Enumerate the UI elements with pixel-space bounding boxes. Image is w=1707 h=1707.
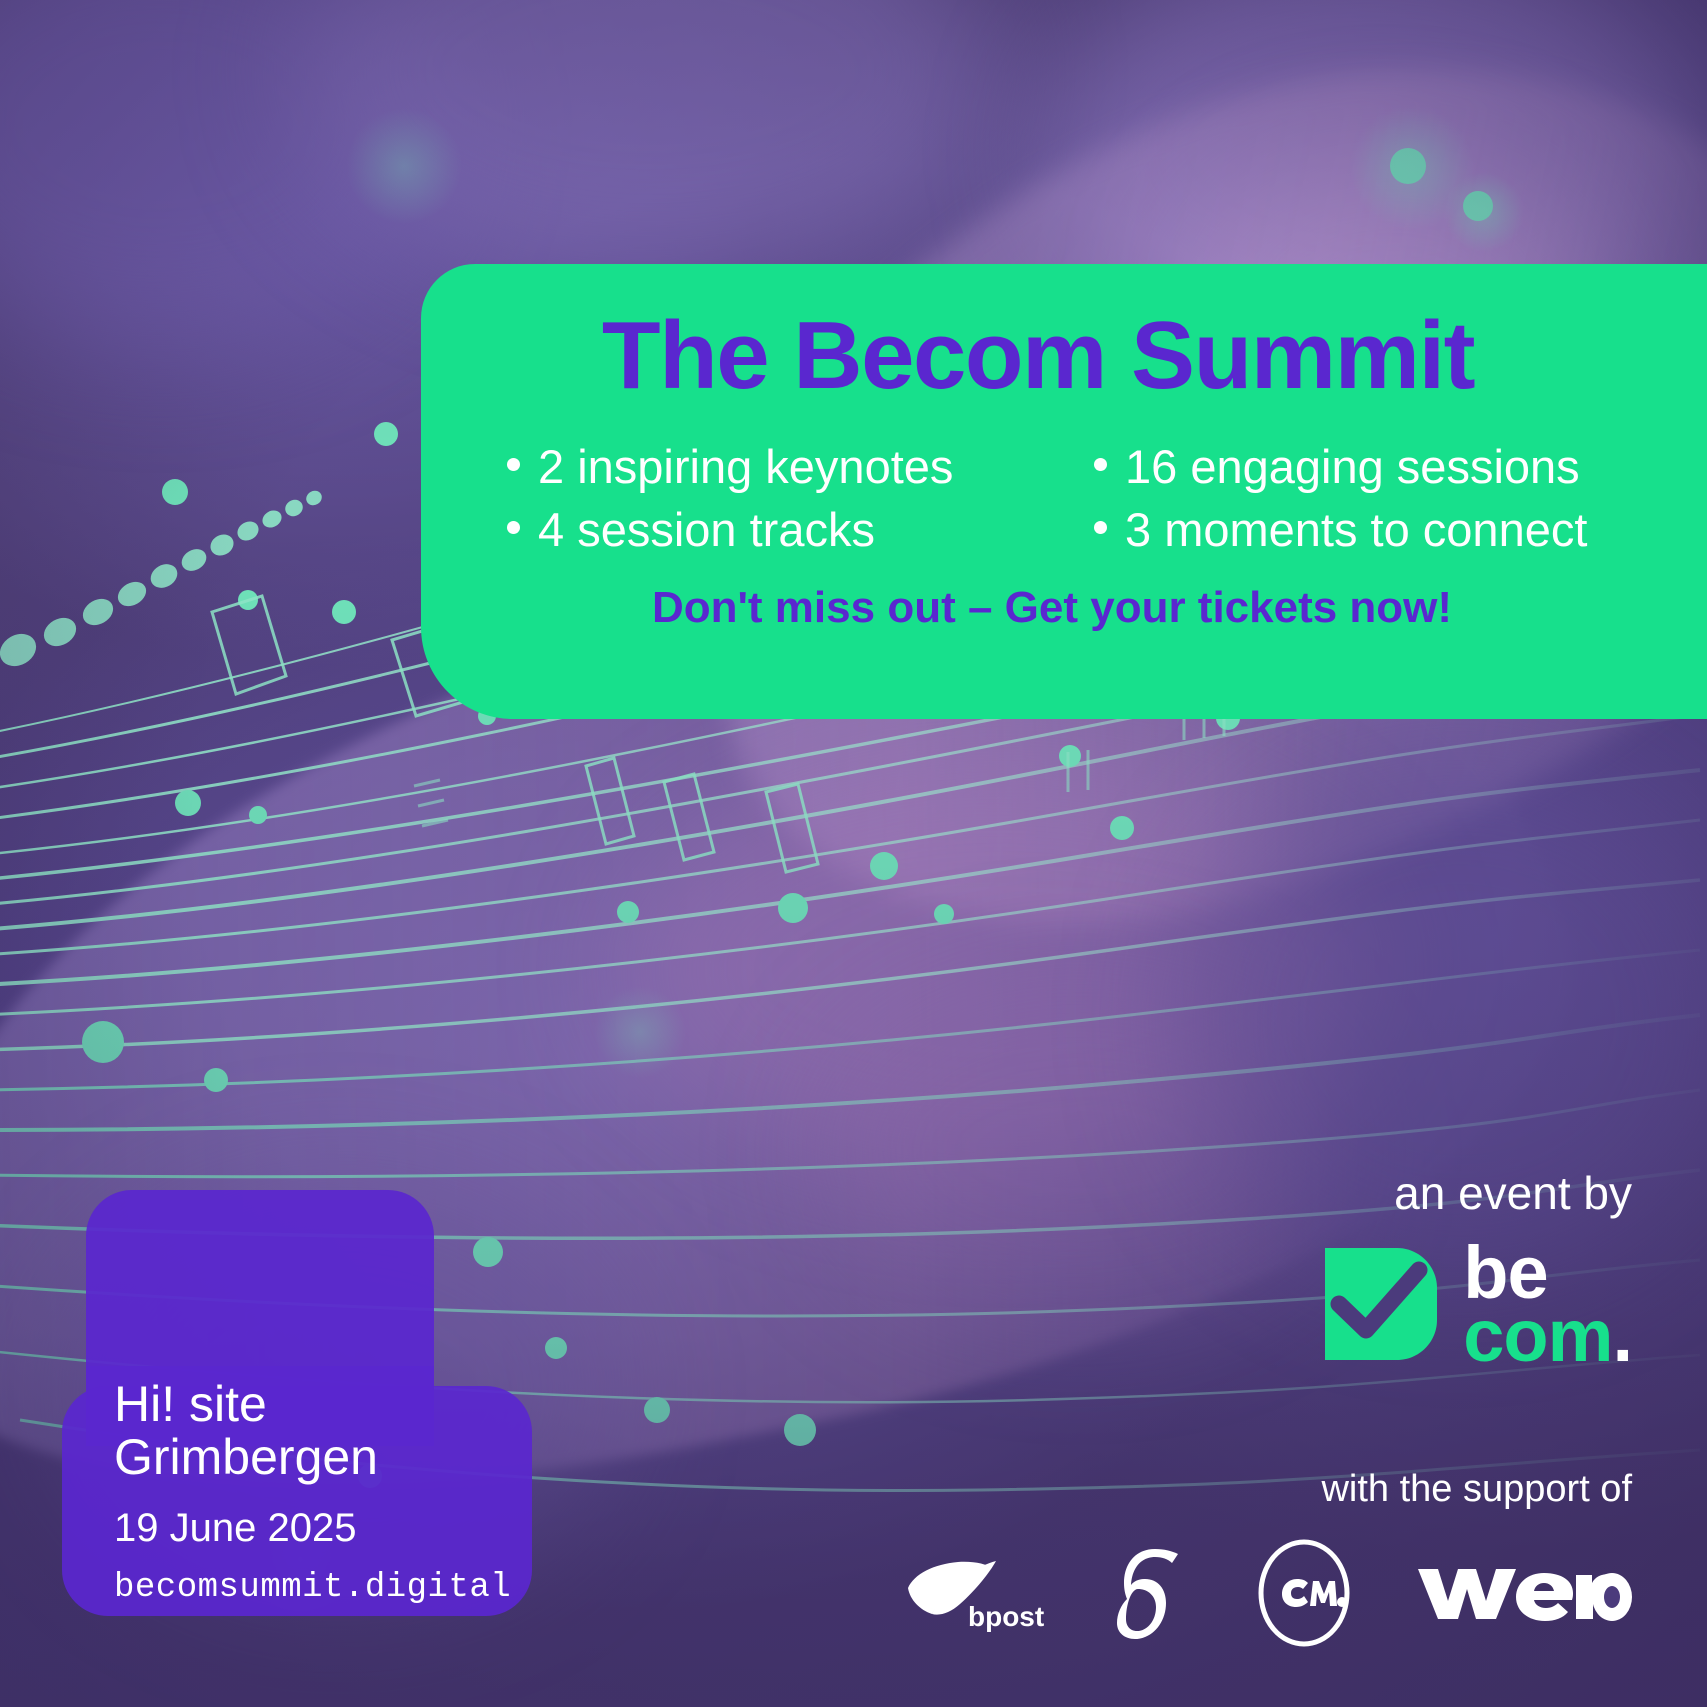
svg-text:bpost: bpost [968, 1601, 1044, 1632]
becom-word-com: com. [1463, 1304, 1632, 1368]
venue-name: Hi! site Grimbergen [114, 1378, 522, 1484]
venue-badge: Hi! site Grimbergen 19 June 2025 becomsu… [62, 1086, 532, 1616]
organiser-block: an event by be com. [1323, 1168, 1632, 1368]
cm-oval-logo[interactable] [1256, 1537, 1352, 1649]
summit-info-panel: The Becom Summit 2 inspiring keynotes 16… [421, 264, 1707, 719]
bullet-dot-icon [507, 521, 520, 534]
bullet-dot-icon [507, 458, 520, 471]
supporters-block: with the support of bpost [900, 1468, 1632, 1649]
page-title: The Becom Summit [421, 308, 1707, 404]
bullet-dot-icon [1094, 458, 1107, 471]
becom-logo[interactable]: be com. [1323, 1241, 1632, 1368]
event-website-url[interactable]: becomsummit.digital [114, 1569, 522, 1607]
list-item-label: 4 session tracks [538, 501, 875, 558]
becom-checkmark-icon [1323, 1246, 1437, 1362]
list-item: 3 moments to connect [1094, 501, 1647, 558]
bullet-dot-icon [1094, 521, 1107, 534]
event-date: 19 June 2025 [114, 1506, 522, 1551]
list-item-label: 3 moments to connect [1125, 501, 1587, 558]
list-item-label: 2 inspiring keynotes [538, 438, 953, 495]
cta-text[interactable]: Don't miss out – Get your tickets now! [421, 583, 1707, 633]
becom-wordmark: be com. [1463, 1241, 1632, 1368]
supporters-label: with the support of [900, 1468, 1632, 1511]
six-spiral-logo[interactable] [1114, 1545, 1192, 1641]
highlights-list: 2 inspiring keynotes 16 engaging session… [421, 438, 1707, 559]
list-item: 16 engaging sessions [1094, 438, 1647, 495]
wero-logo[interactable] [1416, 1561, 1632, 1625]
list-item: 2 inspiring keynotes [507, 438, 1060, 495]
venue-badge-content: Hi! site Grimbergen 19 June 2025 becomsu… [114, 1378, 522, 1607]
supporter-logo-row: bpost [900, 1537, 1632, 1649]
list-item: 4 session tracks [507, 501, 1060, 558]
organiser-label: an event by [1323, 1168, 1632, 1219]
list-item-label: 16 engaging sessions [1125, 438, 1580, 495]
bpost-logo[interactable]: bpost [900, 1552, 1050, 1634]
becom-word-period: . [1612, 1294, 1632, 1377]
